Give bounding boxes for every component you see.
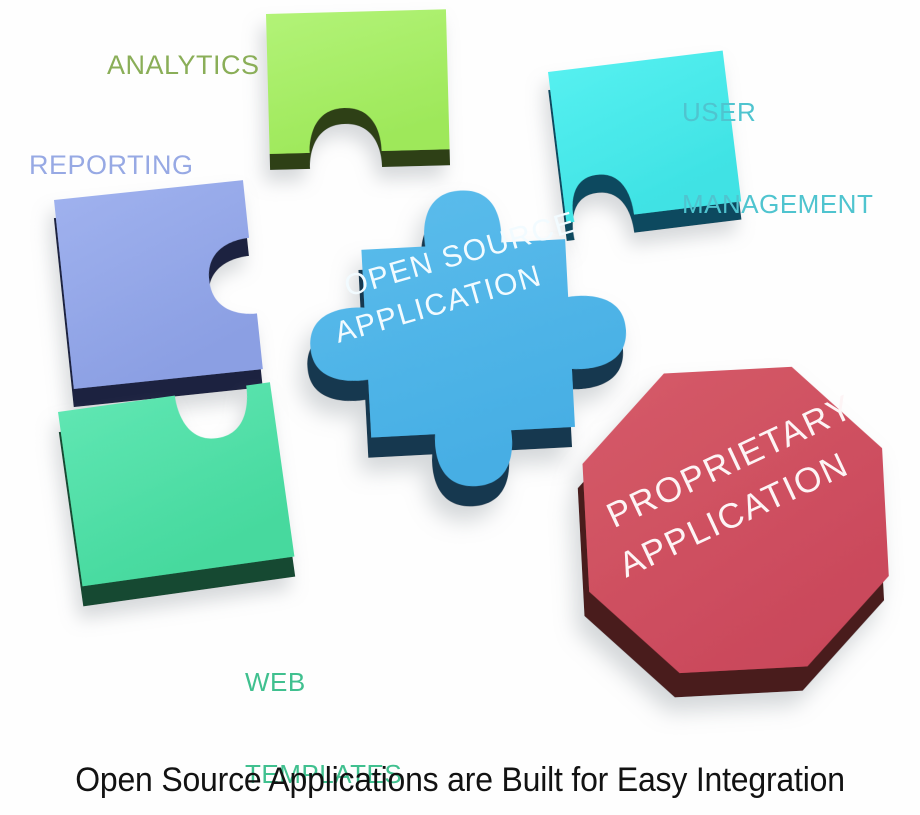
label-analytics: ANALYTICS [107, 50, 260, 82]
piece-web-templates [56, 382, 297, 606]
piece-reporting [52, 180, 265, 407]
illustration-canvas: OPEN SOURCE APPLICATION PROPRIETARY APPL… [0, 0, 920, 815]
label-reporting: REPORTING [29, 150, 194, 182]
label-user-management-line2: MANAGEMENT [682, 189, 873, 220]
label-user-management: USER MANAGEMENT [682, 36, 873, 281]
piece-analytics [266, 9, 450, 170]
label-user-management-line1: USER [682, 97, 873, 128]
label-web-templates-line1: WEB [245, 667, 402, 698]
caption-text: Open Source Applications are Built for E… [28, 745, 893, 815]
shape-proprietary-application: PROPRIETARY APPLICATION [572, 362, 895, 702]
